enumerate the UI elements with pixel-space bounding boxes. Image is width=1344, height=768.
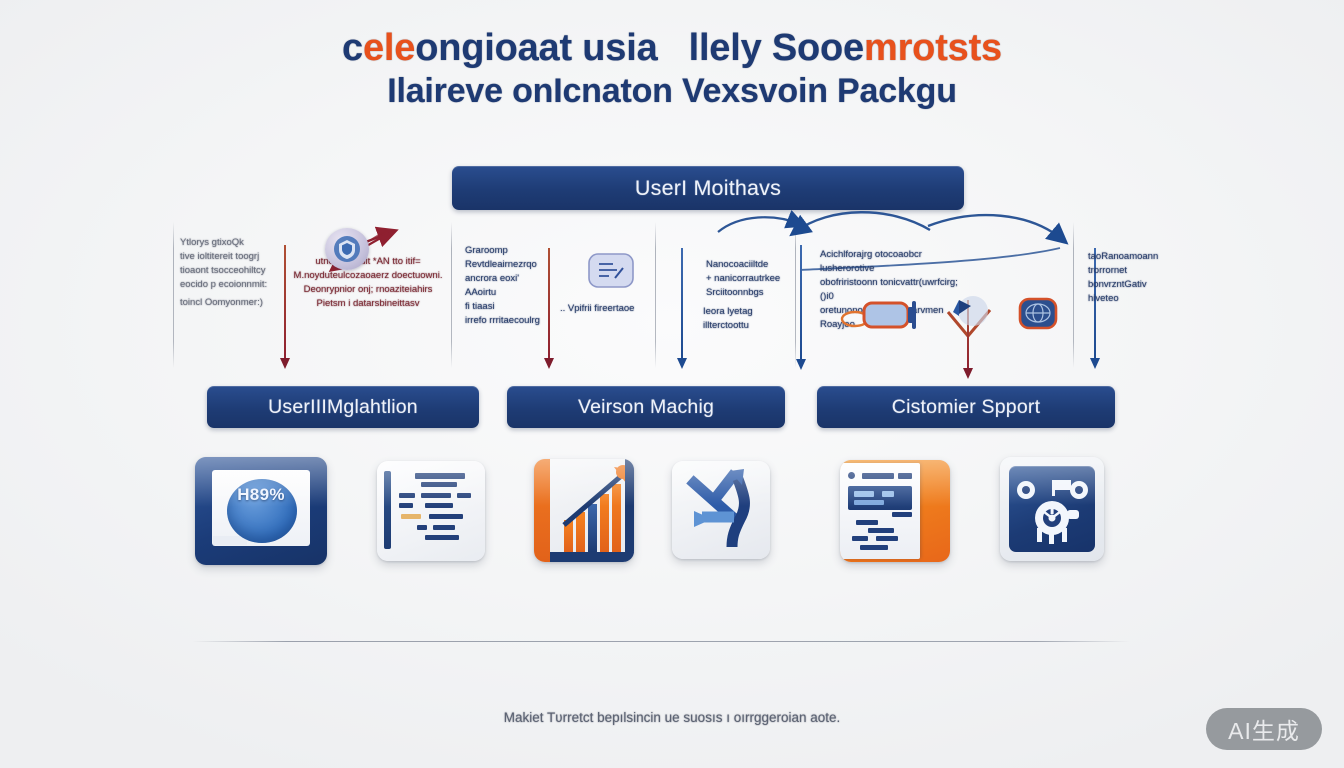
- title-line-2: Ilaireve onIcnaton Vexsvoin Packgu: [0, 71, 1344, 111]
- note-text-7: Ieora lyetag illterctoottu: [703, 305, 798, 333]
- doc-line: [399, 503, 413, 508]
- form-line: [868, 528, 894, 533]
- banner-user-motivations[interactable]: UserI Moithavs: [452, 166, 964, 210]
- title-line-1: celeongioaat usia llely Sooemrotsts: [0, 26, 1344, 71]
- title-seg-spacer: [658, 27, 689, 69]
- form-line: [876, 536, 898, 541]
- location-pin-icon: [945, 292, 993, 332]
- title-seg-2: ele: [363, 27, 415, 69]
- title-seg-3: ongioaat usia: [415, 27, 657, 69]
- note-text-6: Nanocoaciiltde + nanicorrautrkee Srciito…: [706, 258, 798, 300]
- banner-version-matching[interactable]: Veirson Machig: [507, 386, 785, 428]
- tile-gear-settings[interactable]: [1000, 457, 1104, 561]
- arrow-down-blue-2: [800, 245, 802, 361]
- doc-line: [415, 473, 465, 479]
- tile-pie-chart-percent[interactable]: H89%: [195, 457, 327, 565]
- tag-label-icon: [838, 295, 928, 335]
- tile-document-lines[interactable]: [377, 461, 485, 561]
- column-divider-5: [1073, 222, 1074, 368]
- ai-watermark-badge: AI生成: [1206, 708, 1322, 750]
- banner-center-label: Veirson Machig: [578, 396, 714, 419]
- connector-arrows-layer: [0, 0, 1344, 768]
- gears-settings-icon: [1009, 466, 1095, 552]
- doc-line: [457, 493, 471, 498]
- form-panel-line: [854, 500, 884, 505]
- banner-right-label: Cistomier Spport: [892, 396, 1040, 419]
- form-line: [860, 545, 888, 550]
- globe-badge-icon: [1018, 296, 1058, 332]
- footer-caption: Makiet Tʋrretct bepılsincin ue suosıs ı …: [0, 710, 1344, 725]
- ai-watermark-label: AI生成: [1228, 712, 1300, 746]
- shield-badge-glyph: [325, 228, 369, 270]
- form-line: [898, 473, 912, 479]
- doc-line-highlight: [401, 514, 421, 519]
- form-line: [892, 512, 912, 517]
- doc-line: [417, 525, 427, 530]
- doc-line: [421, 482, 457, 487]
- doc-line: [421, 493, 451, 498]
- title-seg-4: llely Sooe: [689, 27, 864, 69]
- form-line: [862, 473, 894, 479]
- title-seg-1: c: [342, 27, 363, 69]
- tile-branching-arrows[interactable]: [672, 461, 770, 559]
- form-panel-line: [882, 491, 894, 497]
- doc-line: [429, 514, 463, 519]
- chart-x-axis: [550, 552, 634, 562]
- document-spine: [384, 471, 391, 549]
- bottom-divider: [192, 641, 1130, 642]
- globe-badge-glyph: [1018, 296, 1058, 332]
- tile-bar-chart[interactable]: [534, 459, 634, 562]
- note-text-1: Ytlorys gtixoQk tive ioltitereit toogrj …: [180, 236, 285, 292]
- page-title: celeongioaat usia llely Sooemrotsts Ilai…: [0, 26, 1344, 111]
- title-seg-5: mrotsts: [864, 27, 1002, 69]
- clipboard-icon: [585, 250, 639, 292]
- column-divider-1: [173, 222, 174, 368]
- form-line: [856, 520, 878, 525]
- doc-line: [399, 493, 415, 498]
- column-divider-3: [655, 222, 656, 368]
- banner-left-label: UserIIIMglahtlion: [268, 396, 418, 419]
- column-divider-2: [451, 222, 452, 368]
- form-panel-line: [854, 491, 874, 497]
- form-bullet: [848, 472, 855, 479]
- trend-arrow-icon: [534, 459, 634, 562]
- tag-label-glyph: [838, 295, 928, 335]
- tile-percent-label: H89%: [195, 485, 327, 505]
- banner-user-migration[interactable]: UserIIIMglahtlion: [207, 386, 479, 428]
- note-text-5: .. Vpifrii fireertaoe: [560, 302, 652, 316]
- tile-report-form[interactable]: [840, 460, 950, 562]
- location-pin-glyph: [945, 292, 993, 332]
- note-text-2: toincl Oomyonmer:): [180, 296, 290, 310]
- note-text-9: taoRanoamoann trorrornet bonvrzntGativ h…: [1088, 250, 1178, 306]
- gear-tile-pad: [1009, 466, 1095, 552]
- arrow-down-blue-1: [681, 248, 683, 360]
- form-panel: [848, 486, 912, 510]
- form-line: [852, 536, 868, 541]
- banner-top-label: UserI Moithavs: [635, 176, 781, 201]
- branching-arrows-icon: [672, 461, 770, 559]
- shield-badge-icon: [325, 228, 369, 270]
- clipboard-glyph: [585, 250, 639, 292]
- diagram-canvas: celeongioaat usia llely Sooemrotsts Ilai…: [0, 0, 1344, 768]
- doc-line: [425, 503, 453, 508]
- doc-line: [425, 535, 459, 540]
- note-text-4: Graroomp Revtdleairnezrqo ancrora eoxi' …: [465, 244, 560, 328]
- banner-customer-support[interactable]: Cistomier Spport: [817, 386, 1115, 428]
- chart-y-axis: [625, 459, 634, 562]
- doc-line: [433, 525, 455, 530]
